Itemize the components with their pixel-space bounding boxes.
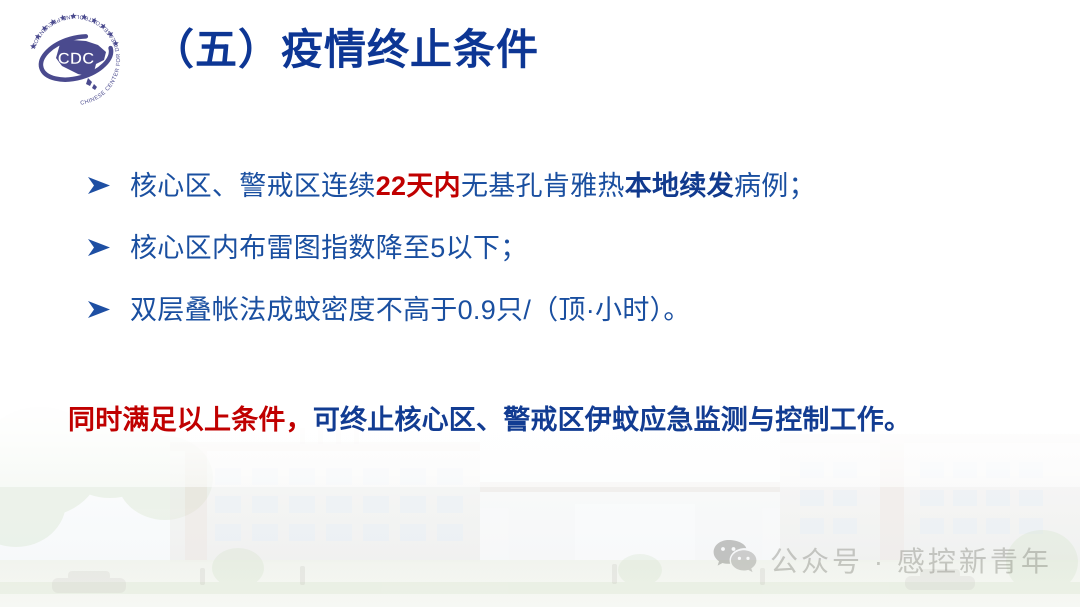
slide-canvas: CHINESE CENTER FOR DISEASE CONTROL AND P…: [0, 0, 1080, 607]
watermark-text: 公众号 · 感控新青年: [770, 540, 1052, 580]
conclusion-blue-text: 可终止核心区、警戒区伊蚊应急监测与控制工作。: [313, 405, 911, 435]
svg-text:CDC: CDC: [58, 49, 95, 68]
wechat-icon: [712, 538, 758, 581]
slide-header: CHINESE CENTER FOR DISEASE CONTROL AND P…: [0, 0, 1080, 122]
list-item: 双层叠帐法成蚊密度不高于0.9只/（顶·小时）。: [86, 296, 1036, 358]
arrow-bullet-icon: [86, 172, 130, 197]
segment-highlight-local: 本地续发: [625, 171, 734, 201]
arrow-bullet-icon: [86, 296, 130, 321]
conclusion-line: 同时满足以上条件，可终止核心区、警戒区伊蚊应急监测与控制工作。: [68, 398, 911, 437]
condition-bullet-list: 核心区、警戒区连续22天内无基孔肯雅热本地续发病例； 核心区内布雷图指数降至5以…: [86, 172, 1036, 358]
list-item-text: 核心区、警戒区连续22天内无基孔肯雅热本地续发病例；: [130, 172, 1036, 200]
watermark: 公众号 · 感控新青年: [712, 538, 1052, 581]
conclusion-red-text: 同时满足以上条件，: [68, 405, 313, 435]
segment-text: 无基孔肯雅热: [461, 171, 625, 201]
arrow-bullet-icon: [86, 234, 130, 259]
segment-highlight-days: 22天内: [376, 171, 461, 201]
page-title: （五）疫情终止条件: [152, 26, 539, 74]
segment-text: 核心区、警戒区连续: [130, 171, 376, 201]
segment-text: 病例；: [734, 171, 816, 201]
list-item: 核心区、警戒区连续22天内无基孔肯雅热本地续发病例；: [86, 172, 1036, 234]
list-item: 核心区内布雷图指数降至5以下；: [86, 234, 1036, 296]
list-item-text: 核心区内布雷图指数降至5以下；: [130, 234, 1036, 262]
list-item-text: 双层叠帐法成蚊密度不高于0.9只/（顶·小时）。: [130, 296, 1036, 324]
china-cdc-logo: CHINESE CENTER FOR DISEASE CONTROL AND P…: [14, 8, 136, 112]
segment-text: 双层叠帐法成蚊密度不高于0.9只/（顶·小时）。: [130, 295, 691, 325]
segment-text: 核心区内布雷图指数降至5以下；: [130, 233, 528, 263]
